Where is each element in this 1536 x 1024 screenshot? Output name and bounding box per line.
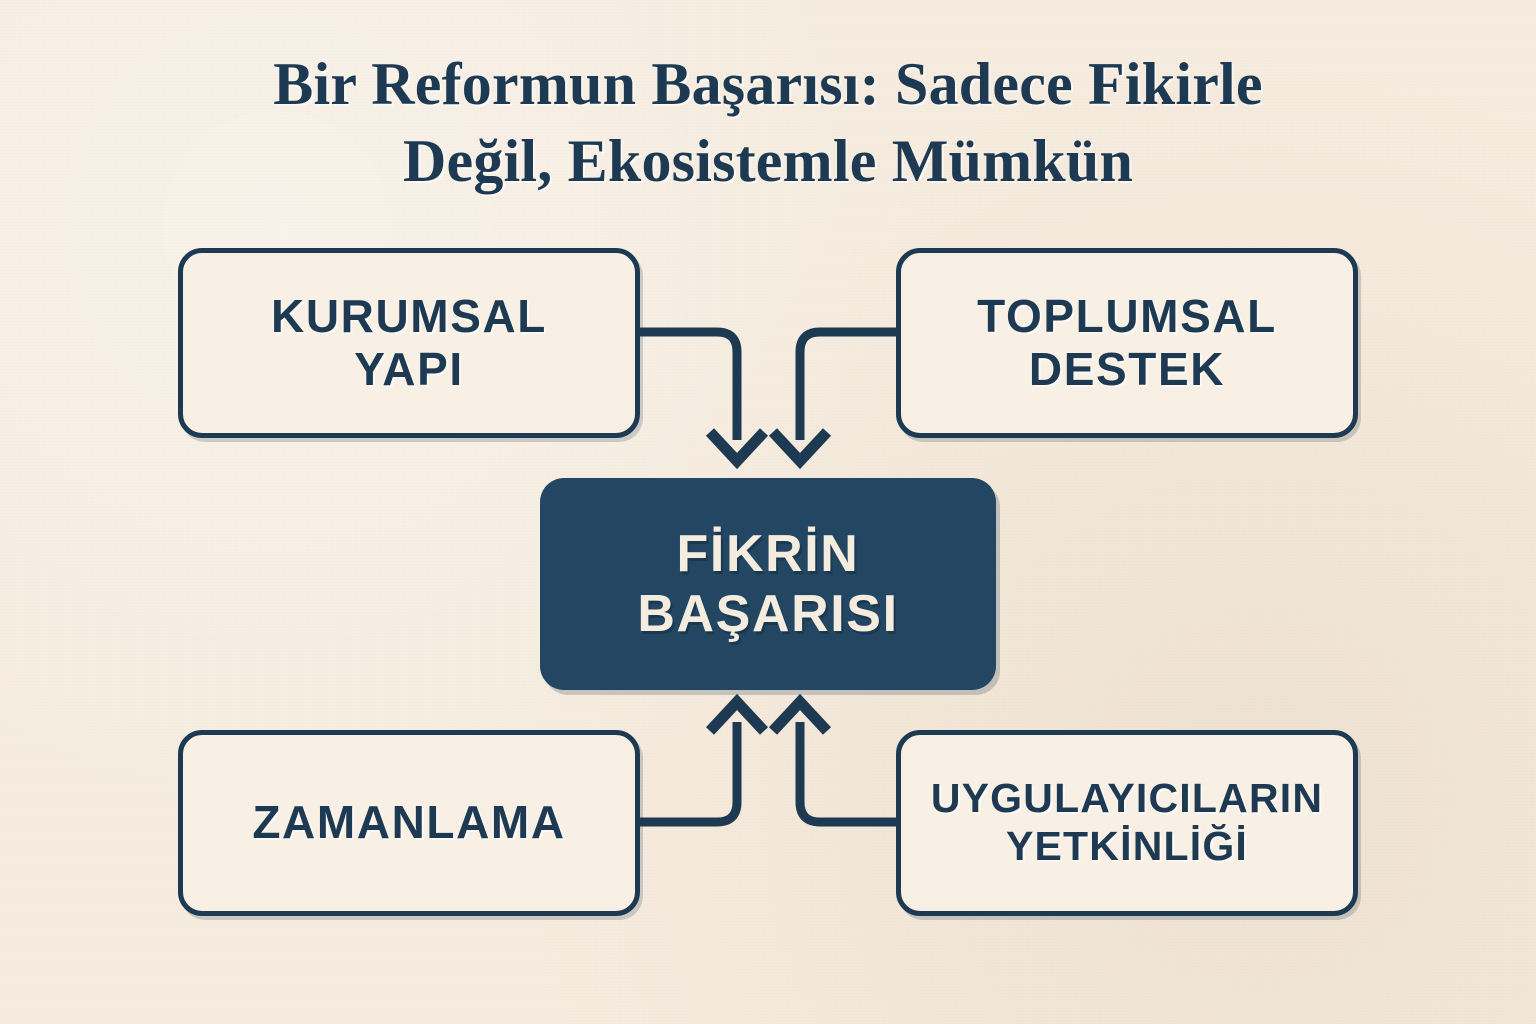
arrowhead-up-right — [773, 702, 827, 731]
connector-zamanlama-to-center — [640, 722, 737, 822]
arrowhead-up-left — [710, 702, 764, 731]
connector-toplumsal-to-center — [800, 332, 896, 440]
arrowhead-down-left — [710, 432, 764, 461]
node-toplumsal-destek[interactable]: TOPLUMSAL DESTEK — [896, 248, 1358, 438]
page-title: Bir Reformun Başarısı: Sadece Fikirle De… — [0, 46, 1536, 200]
arrowhead-down-right — [773, 432, 827, 461]
node-uygulayicilarin-yetkinligi[interactable]: UYGULAYICILARIN YETKİNLİĞİ — [896, 730, 1358, 916]
node-zamanlama-label: ZAMANLAMA — [252, 796, 565, 849]
diagram-canvas: Bir Reformun Başarısı: Sadece Fikirle De… — [0, 0, 1536, 1024]
node-fikrin-basarisi[interactable]: FİKRİN BAŞARISI — [540, 478, 996, 690]
connector-kurumsal-to-center — [640, 332, 737, 440]
node-toplumsal-destek-label: TOPLUMSAL DESTEK — [977, 290, 1277, 397]
node-kurumsal-yapi-label: KURUMSAL YAPI — [271, 290, 547, 397]
node-kurumsal-yapi[interactable]: KURUMSAL YAPI — [178, 248, 640, 438]
node-fikrin-basarisi-label: FİKRİN BAŞARISI — [637, 524, 898, 645]
node-zamanlama[interactable]: ZAMANLAMA — [178, 730, 640, 916]
connector-uygulayici-to-center — [800, 722, 896, 822]
node-uygulayicilarin-yetkinligi-label: UYGULAYICILARIN YETKİNLİĞİ — [931, 775, 1323, 870]
